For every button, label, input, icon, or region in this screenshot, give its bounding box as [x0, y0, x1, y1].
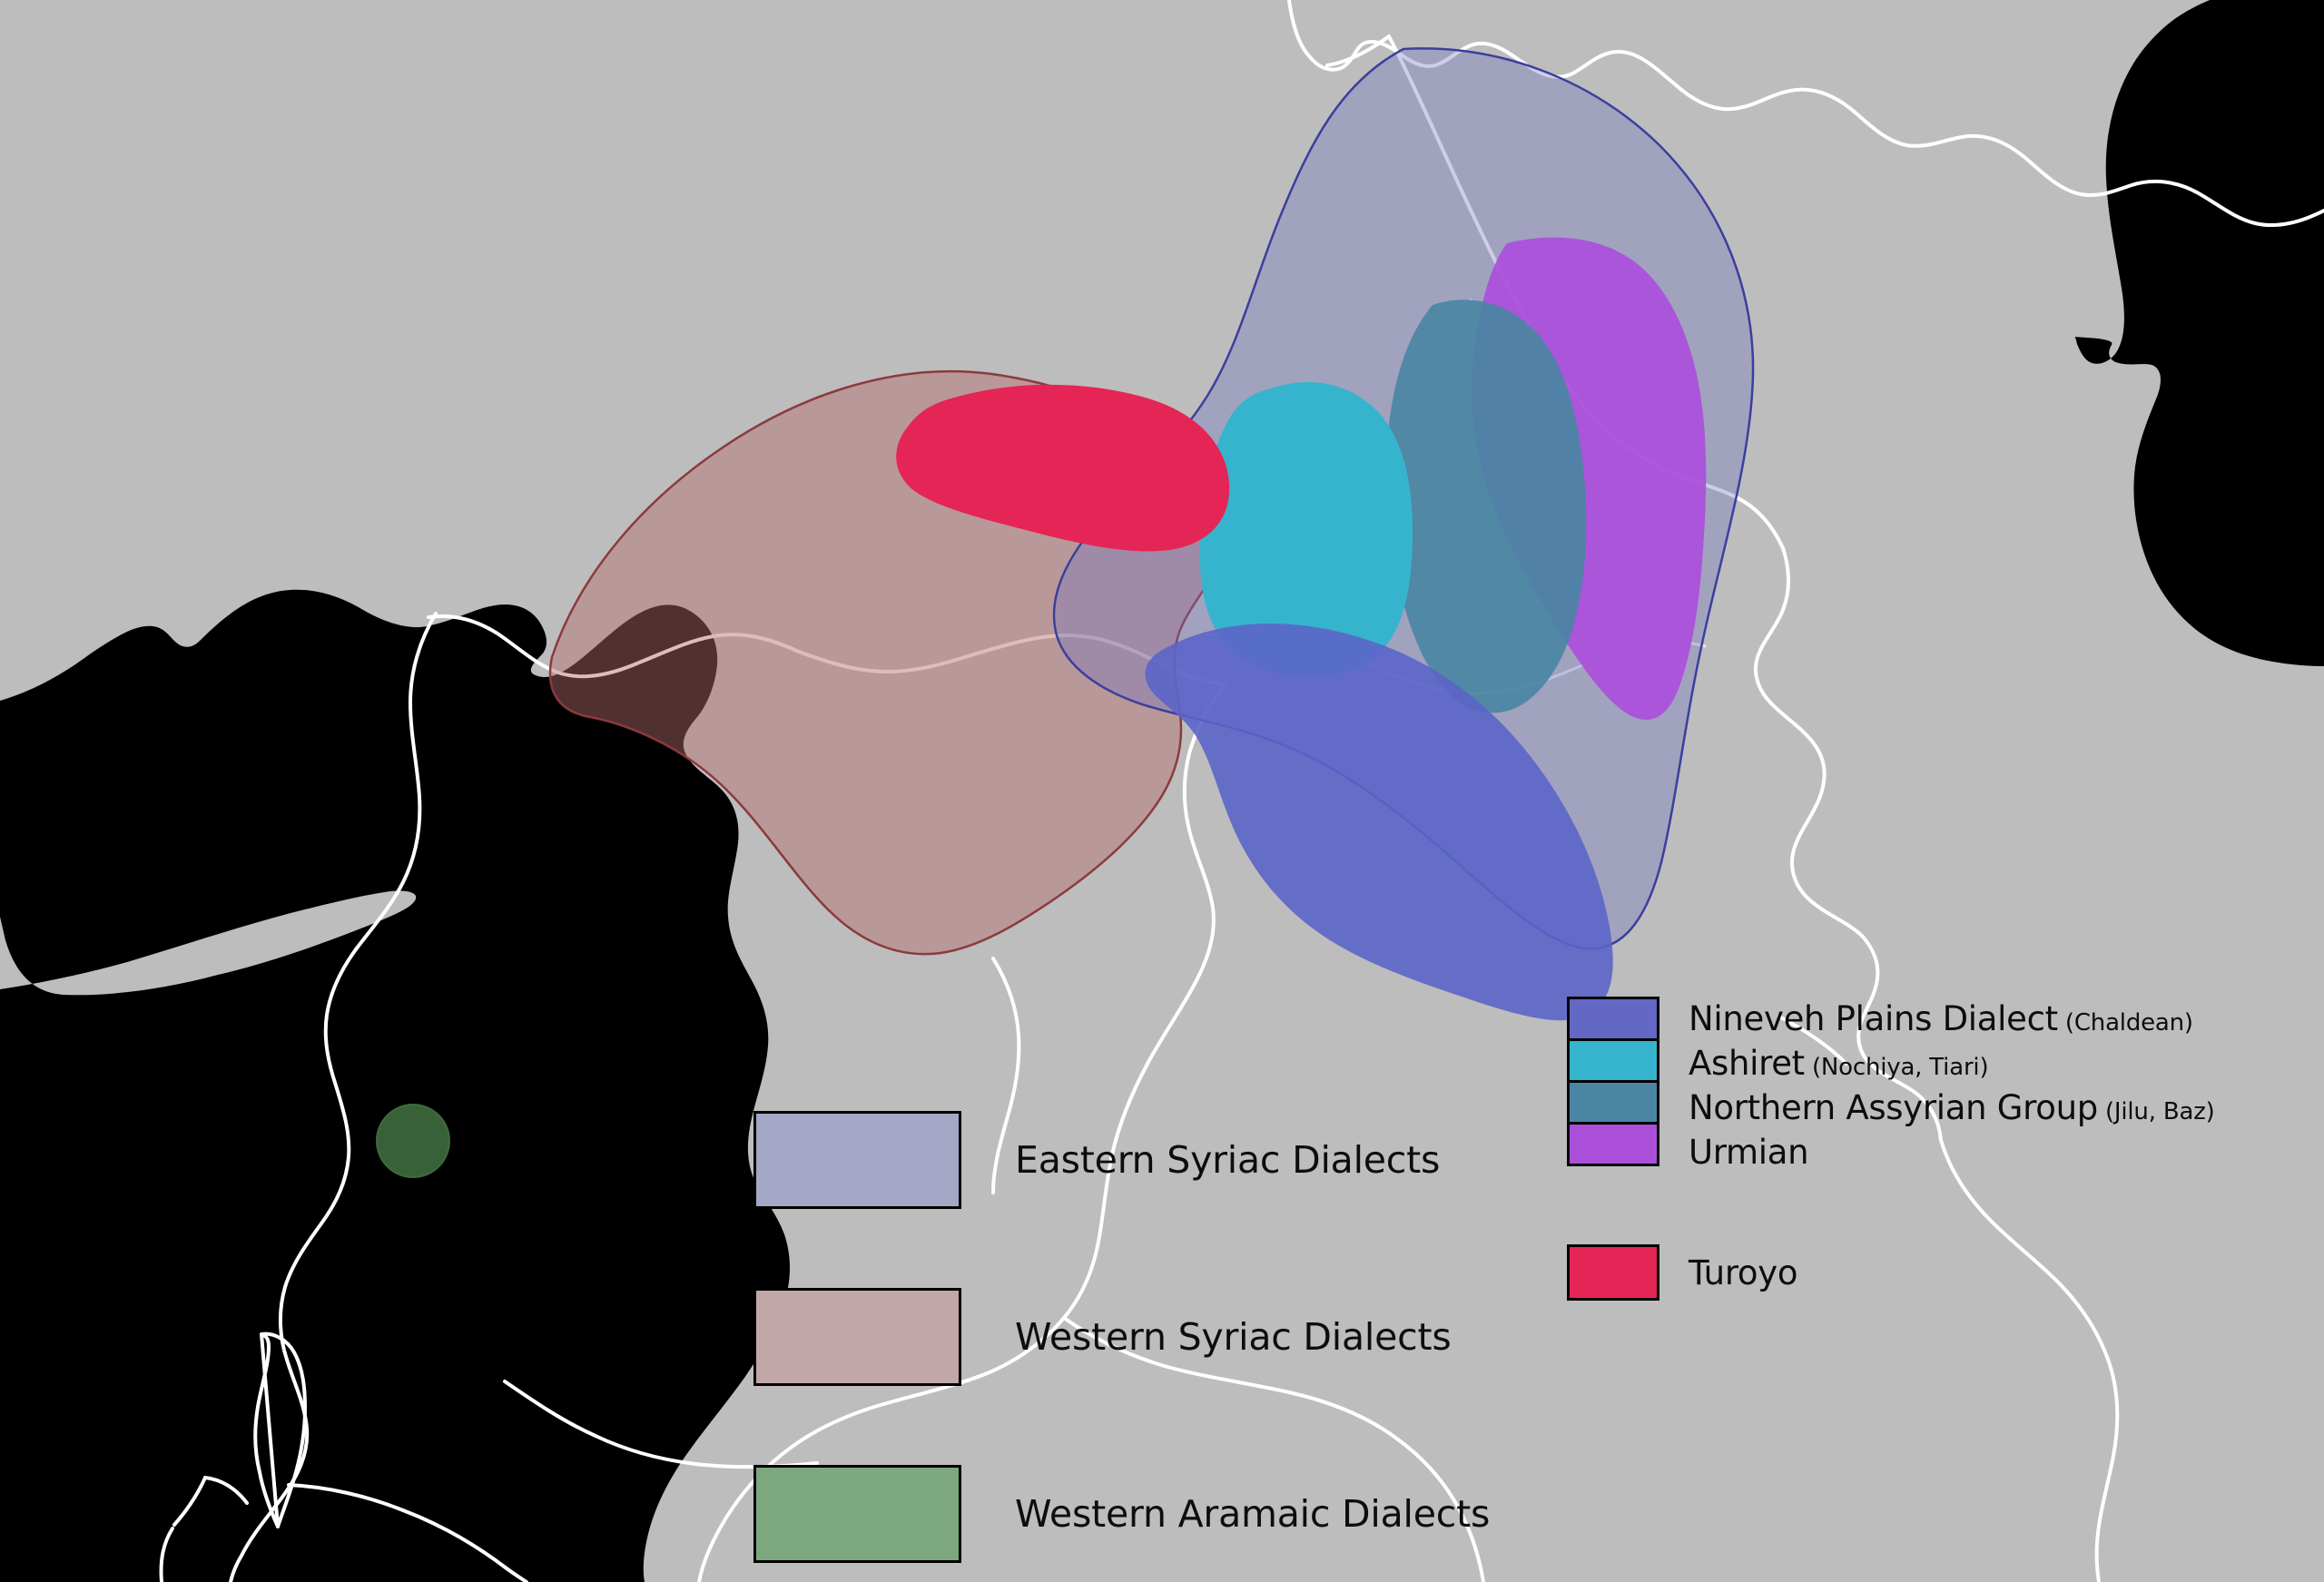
legend-swatch-northern-assyrian[interactable] — [1567, 1080, 1659, 1125]
legend-label-stack: Nineveh Plains Dialect (Chaldean) Ashire… — [1689, 997, 2215, 1174]
legend-right: Nineveh Plains Dialect (Chaldean) Ashire… — [1567, 997, 2215, 1301]
legend-item-northern-assyrian[interactable]: Northern Assyrian Group (Jilu, Baz) — [1689, 1086, 2215, 1130]
legend-label-northern-assyrian: Northern Assyrian Group — [1689, 1088, 2098, 1127]
legend-swatch-turoyo — [1567, 1244, 1659, 1301]
legend-left: Eastern Syriac Dialects Western Syriac D… — [753, 1071, 1490, 1582]
legend-swatch-western-aramaic — [753, 1465, 961, 1563]
legend-sublabel-nineveh-plains: (Chaldean) — [2058, 1009, 2193, 1037]
legend-label-eastern-syriac: Eastern Syriac Dialects — [1015, 1138, 1440, 1182]
legend-label-nineveh-plains: Nineveh Plains Dialect — [1689, 999, 2058, 1038]
legend-swatch-eastern-syriac — [753, 1111, 961, 1209]
legend-swatch-ashiret[interactable] — [1567, 1038, 1659, 1083]
legend-sublabel-northern-assyrian: (Jilu, Baz) — [2098, 1098, 2215, 1125]
legend-stacked-group: Nineveh Plains Dialect (Chaldean) Ashire… — [1567, 997, 2215, 1174]
legend-item-urmian[interactable]: Urmian — [1689, 1130, 2215, 1174]
dialect-map: Eastern Syriac Dialects Western Syriac D… — [0, 0, 2324, 1582]
legend-label-urmian: Urmian — [1689, 1133, 1808, 1172]
legend-label-western-syriac: Western Syriac Dialects — [1015, 1315, 1452, 1359]
legend-label-western-aramaic: Western Aramaic Dialects — [1015, 1492, 1490, 1536]
legend-swatch-western-syriac — [753, 1288, 961, 1386]
legend-item-ashiret[interactable]: Ashiret (Nochiya, Tiari) — [1689, 1041, 2215, 1086]
legend-label-ashiret: Ashiret — [1689, 1044, 1805, 1083]
legend-item-eastern-syriac[interactable]: Eastern Syriac Dialects — [753, 1071, 1490, 1248]
legend-sublabel-ashiret: (Nochiya, Tiari) — [1805, 1054, 1989, 1081]
legend-item-turoyo[interactable]: Turoyo — [1567, 1244, 2215, 1301]
legend-swatch-nineveh-plains[interactable] — [1567, 997, 1659, 1041]
region-western-aramaic[interactable] — [377, 1105, 449, 1177]
legend-item-western-aramaic[interactable]: Western Aramaic Dialects — [753, 1425, 1490, 1582]
legend-label-turoyo: Turoyo — [1689, 1256, 1797, 1290]
legend-item-nineveh-plains[interactable]: Nineveh Plains Dialect (Chaldean) — [1689, 997, 2215, 1041]
legend-swatch-urmian[interactable] — [1567, 1122, 1659, 1166]
legend-swatch-stack — [1567, 997, 1659, 1164]
legend-item-western-syriac[interactable]: Western Syriac Dialects — [753, 1248, 1490, 1425]
